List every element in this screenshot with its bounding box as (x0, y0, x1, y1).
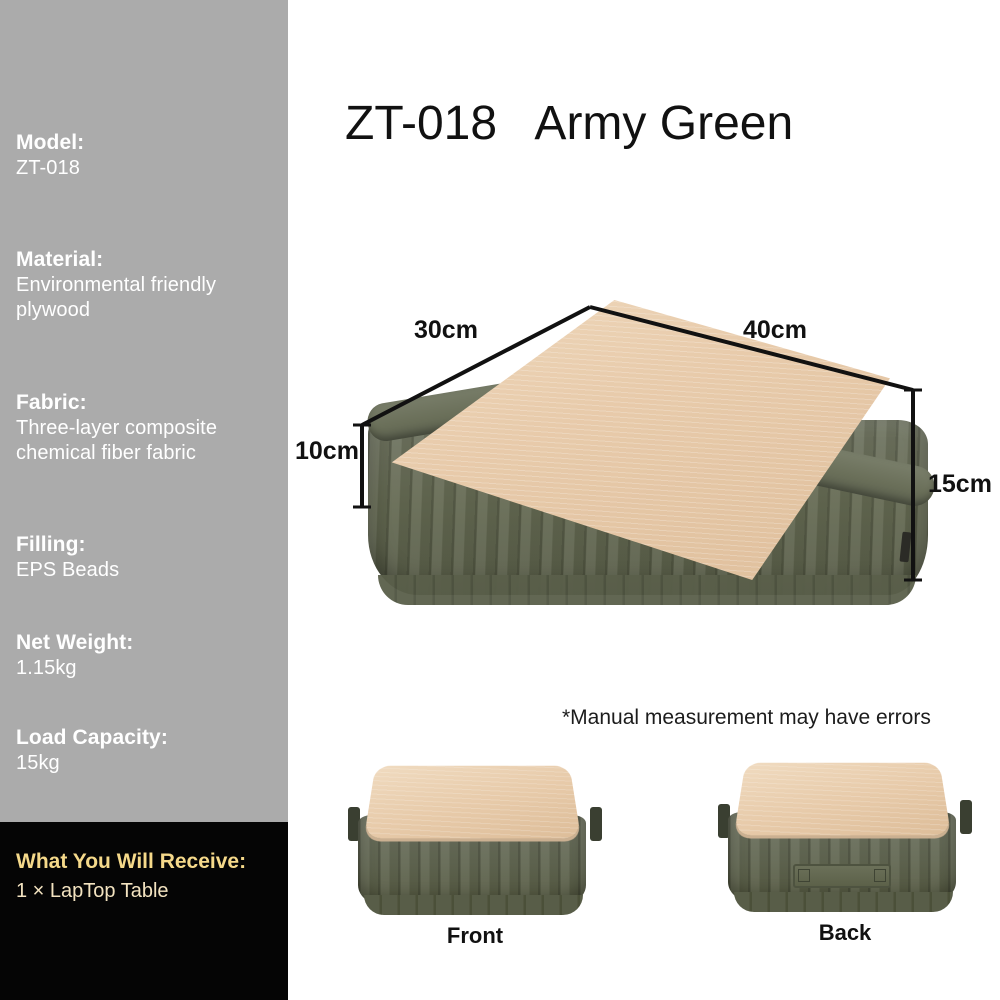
page-title: ZT-018 Army Green (345, 96, 793, 151)
product-spec-infographic: Model: ZT-018 Material: Environmental fr… (0, 0, 1000, 1000)
spec-model: Model: ZT-018 (16, 130, 278, 181)
spec-load-capacity-label: Load Capacity: (16, 725, 278, 751)
spec-model-value: ZT-018 (16, 156, 278, 181)
back-lobes (734, 892, 953, 912)
spec-net-weight-label: Net Weight: (16, 630, 278, 656)
spec-material-value: Environmental friendly plywood (16, 273, 278, 323)
spec-material: Material: Environmental friendly plywood (16, 247, 278, 323)
thumbnail-front: Front (350, 755, 600, 915)
dimension-depth-label: 30cm (414, 316, 478, 345)
measurement-note: *Manual measurement may have errors (562, 706, 931, 730)
spec-model-label: Model: (16, 130, 278, 156)
spec-fabric: Fabric: Three-layer composite chemical f… (16, 390, 278, 466)
thumbnail-back-caption: Back (720, 920, 970, 946)
back-board (734, 763, 951, 836)
receive-label: What You Will Receive: (16, 850, 288, 874)
receive-value: 1 × LapTop Table (16, 880, 278, 903)
front-strap-right (590, 807, 602, 841)
thumbnail-front-caption: Front (350, 923, 600, 949)
spec-load-capacity-value: 15kg (16, 751, 278, 776)
spec-net-weight-value: 1.15kg (16, 656, 278, 681)
spec-fabric-value: Three-layer composite chemical fiber fab… (16, 416, 278, 466)
dimension-board-height-label: 10cm (295, 437, 359, 466)
spec-filling-value: EPS Beads (16, 558, 278, 583)
what-you-will-receive-box: What You Will Receive: 1 × LapTop Table (0, 822, 288, 1000)
spec-filling: Filling: EPS Beads (16, 532, 278, 583)
back-strap-right (960, 800, 972, 834)
spec-net-weight: Net Weight: 1.15kg (16, 630, 278, 681)
thumbnail-back: Back (720, 752, 970, 912)
carry-handle (793, 864, 891, 888)
spec-load-capacity: Load Capacity: 15kg (16, 725, 278, 776)
spec-material-label: Material: (16, 247, 278, 273)
dimension-lines (300, 280, 1000, 660)
hero-product-figure: 30cm 40cm 10cm 15cm (300, 280, 1000, 660)
front-board (364, 766, 581, 839)
spec-fabric-label: Fabric: (16, 390, 278, 416)
spec-sidebar: Model: ZT-018 Material: Environmental fr… (0, 0, 288, 822)
front-lobes (364, 895, 583, 915)
dimension-width-label: 40cm (743, 316, 807, 345)
dimension-total-height-label: 15cm (928, 470, 992, 499)
spec-filling-label: Filling: (16, 532, 278, 558)
